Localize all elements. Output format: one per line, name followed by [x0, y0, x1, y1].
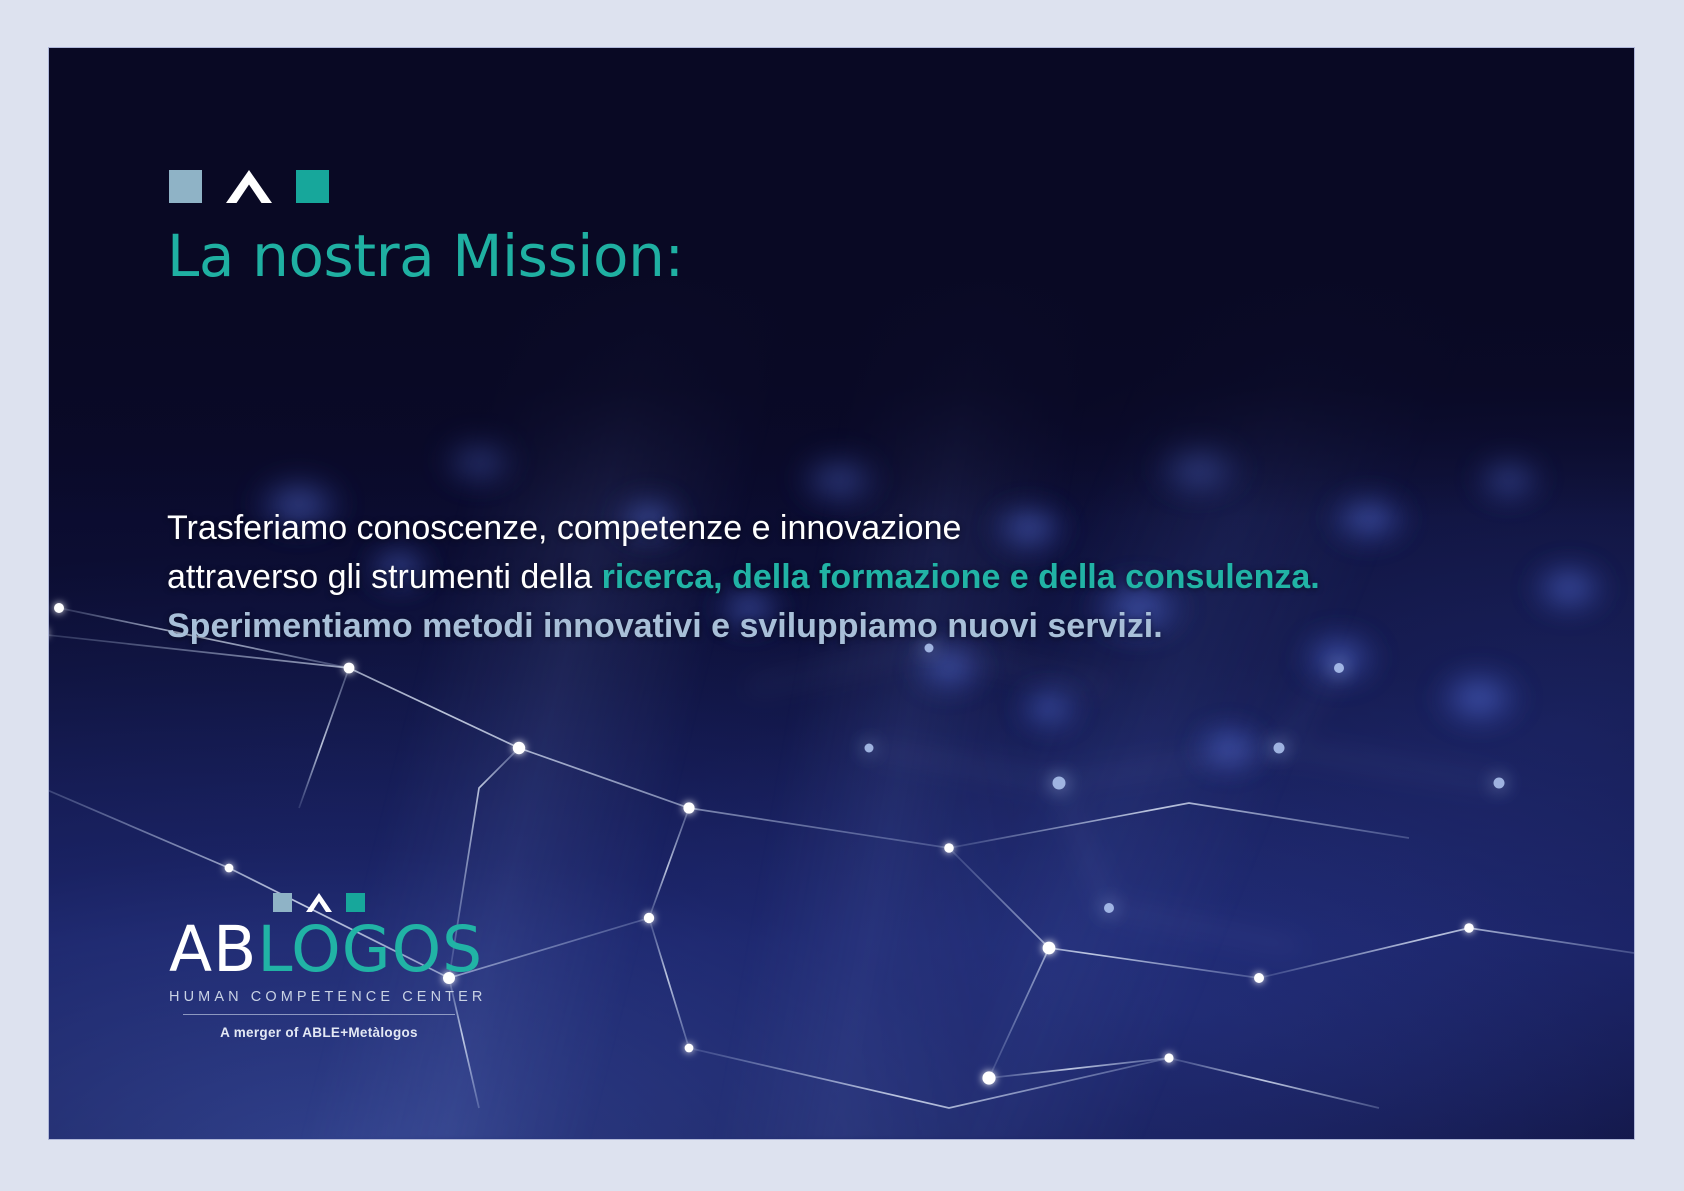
logo-mark	[169, 893, 469, 912]
square-icon	[346, 893, 365, 912]
mission-line-2-accent: ricerca, della formazione e della consul…	[602, 558, 1320, 596]
ablogos-logo: ABLOGOS HUMAN COMPETENCE CENTER A merger…	[169, 893, 469, 1040]
mission-line-2: attraverso gli strumenti della ricerca, …	[167, 553, 1497, 602]
chevron-up-icon	[306, 893, 332, 912]
presentation-slide: La nostra Mission: Trasferiamo conoscenz…	[49, 48, 1634, 1139]
square-icon	[273, 893, 292, 912]
logo-wordmark-ab: AB	[169, 913, 257, 986]
chevron-up-icon	[226, 170, 272, 203]
square-icon	[296, 170, 329, 203]
logo-merger-note: A merger of ABLE+Metàlogos	[169, 1025, 469, 1040]
square-icon	[169, 170, 202, 203]
logo-subtitle: HUMAN COMPETENCE CENTER	[169, 989, 469, 1005]
header-logo-mark	[169, 170, 329, 203]
page-canvas: La nostra Mission: Trasferiamo conoscenz…	[0, 0, 1684, 1191]
mission-line-1: Trasferiamo conoscenze, competenze e inn…	[167, 504, 1497, 553]
page-title: La nostra Mission:	[167, 226, 684, 286]
mission-line-2-plain: attraverso gli strumenti della	[167, 558, 602, 596]
logo-divider	[183, 1014, 455, 1015]
mission-line-3: Sperimentiamo metodi innovativi e svilup…	[167, 602, 1497, 651]
logo-wordmark-logos: LOGOS	[257, 913, 483, 986]
mission-statement: Trasferiamo conoscenze, competenze e inn…	[167, 504, 1497, 651]
logo-wordmark: ABLOGOS	[169, 918, 469, 981]
